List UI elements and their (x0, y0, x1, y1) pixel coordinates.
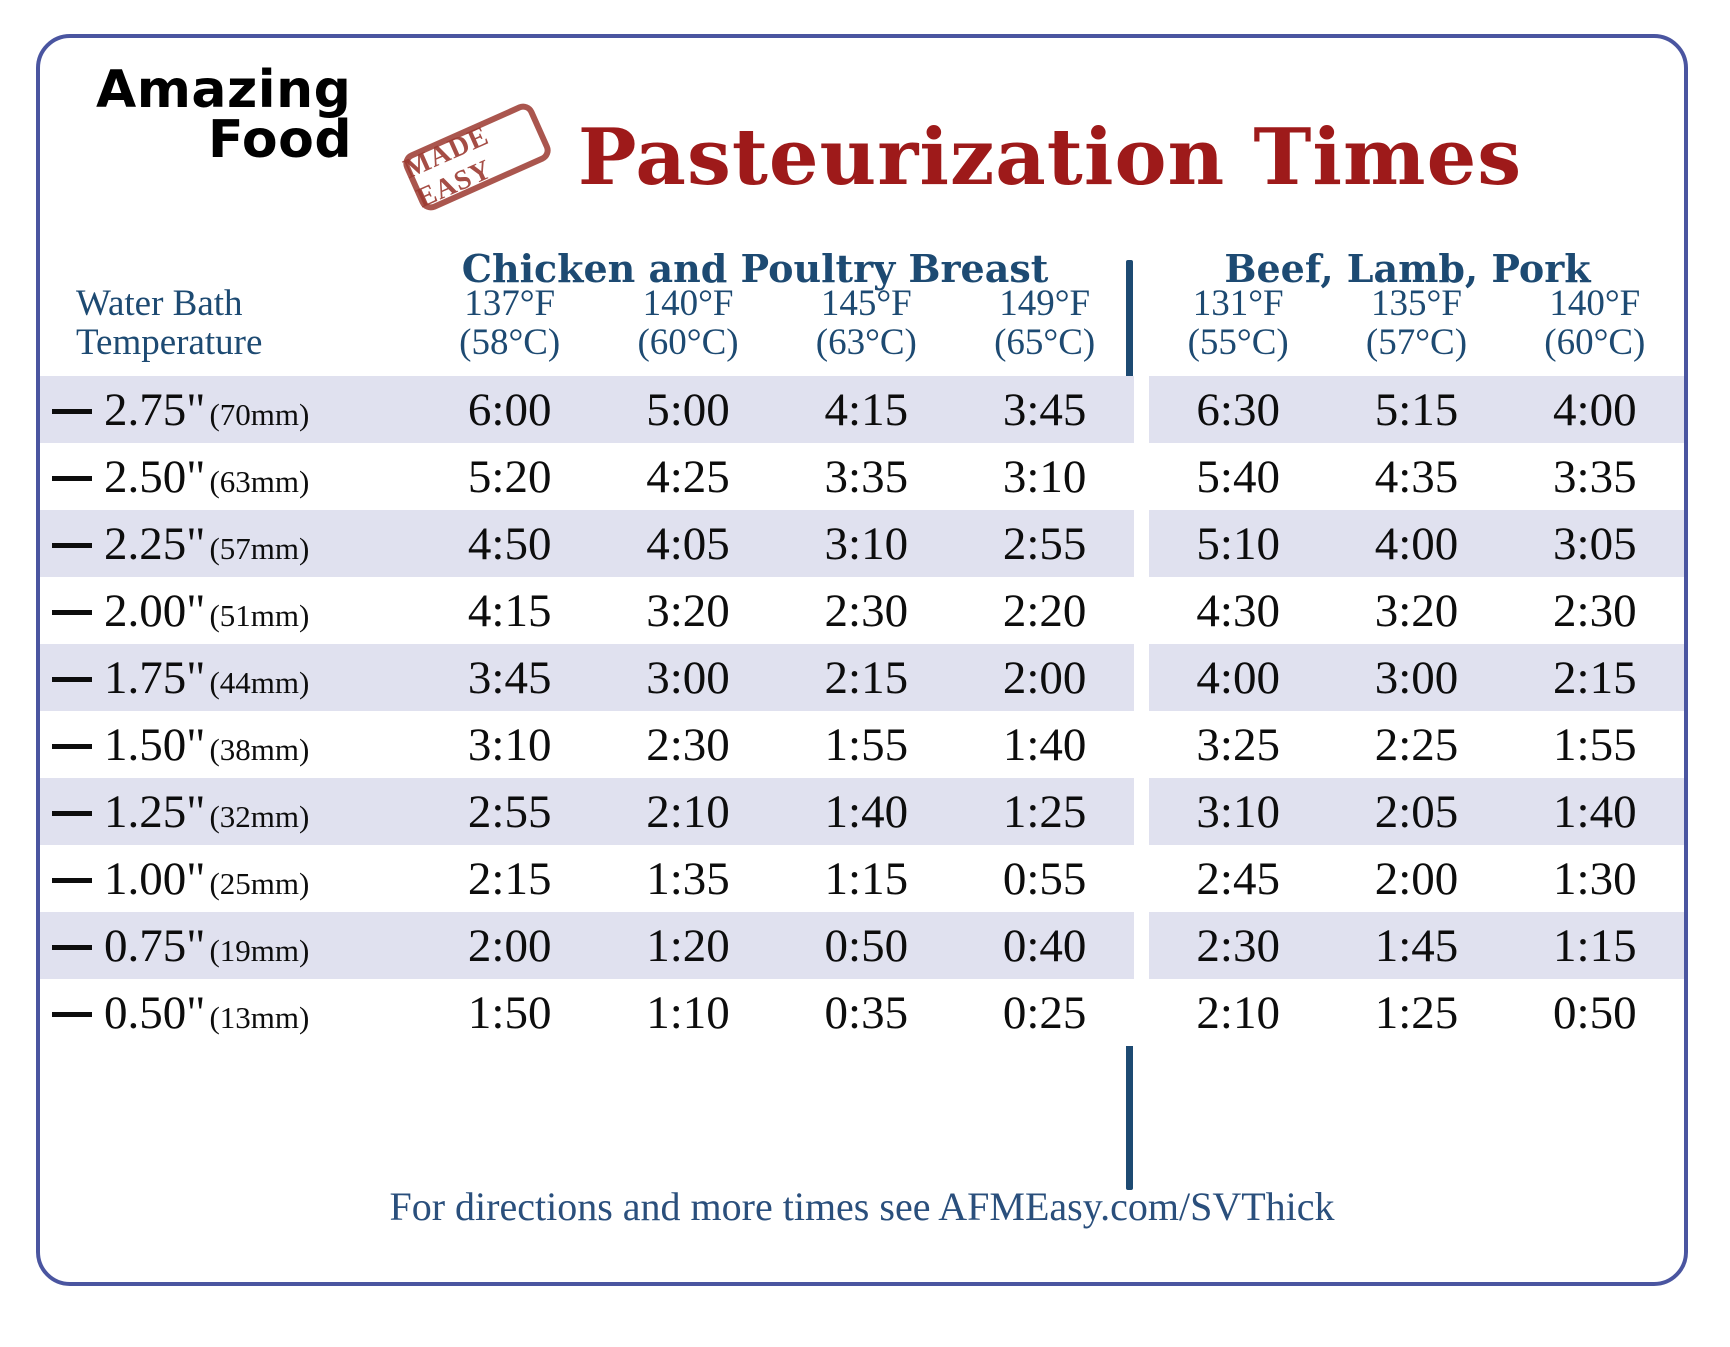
time-cell: 4:15 (421, 577, 599, 644)
time-cell: 2:05 (1327, 778, 1505, 845)
table-head: Water Bath Temperature 137°F (58°C) 140°… (40, 284, 1684, 376)
thickness-inches: 2.00" (104, 585, 205, 637)
dash-icon (52, 409, 92, 414)
thickness-label: 0.50"(13mm) (40, 979, 421, 1046)
time-cell: 3:00 (599, 644, 777, 711)
row-header-label: Water Bath Temperature (40, 284, 421, 376)
row-gap (1134, 778, 1149, 845)
thickness-label: 1.50"(38mm) (40, 711, 421, 778)
table-row: 1.75"(44mm)3:453:002:152:004:003:002:15 (40, 644, 1684, 711)
column-gap (1134, 284, 1149, 376)
time-cell: 1:10 (599, 979, 777, 1046)
time-cell: 1:40 (955, 711, 1133, 778)
time-cell: 2:20 (955, 577, 1133, 644)
thickness-mm: (51mm) (209, 598, 309, 633)
time-cell: 3:10 (777, 510, 955, 577)
row-gap (1134, 979, 1149, 1046)
time-cell: 3:45 (421, 644, 599, 711)
thickness-label: 0.75"(19mm) (40, 912, 421, 979)
time-cell: 4:15 (777, 376, 955, 443)
time-cell: 1:55 (1506, 711, 1684, 778)
col-temp-c: (63°C) (816, 322, 917, 363)
time-cell: 4:00 (1149, 644, 1327, 711)
table-row: 0.75"(19mm)2:001:200:500:402:301:451:15 (40, 912, 1684, 979)
row-gap (1134, 376, 1149, 443)
column-header-145f: 145°F (63°C) (777, 284, 955, 376)
pasteurization-table: Water Bath Temperature 137°F (58°C) 140°… (40, 284, 1684, 1046)
time-cell: 4:30 (1149, 577, 1327, 644)
time-cell: 3:10 (1149, 778, 1327, 845)
time-cell: 0:50 (777, 912, 955, 979)
time-cell: 2:00 (1327, 845, 1505, 912)
table-row: 2.75"(70mm)6:005:004:153:456:305:154:00 (40, 376, 1684, 443)
time-cell: 0:55 (955, 845, 1133, 912)
time-cell: 5:10 (1149, 510, 1327, 577)
thickness-inches: 2.25" (104, 518, 205, 570)
row-gap (1134, 510, 1149, 577)
column-header-140f-poultry: 140°F (60°C) (599, 284, 777, 376)
dash-icon (52, 610, 92, 615)
info-card: Amazing Food MADE EASY Pasteurization Ti… (36, 34, 1688, 1286)
time-cell: 1:30 (1506, 845, 1684, 912)
time-cell: 1:25 (1327, 979, 1505, 1046)
time-cell: 2:10 (1149, 979, 1327, 1046)
time-cell: 2:30 (599, 711, 777, 778)
time-cell: 2:15 (421, 845, 599, 912)
time-cell: 3:35 (777, 443, 955, 510)
time-cell: 1:20 (599, 912, 777, 979)
col-temp-f: 140°F (1549, 283, 1640, 324)
col-temp-f: 137°F (464, 283, 555, 324)
thickness-inches: 1.75" (104, 652, 205, 704)
time-cell: 6:00 (421, 376, 599, 443)
dash-icon (52, 476, 92, 481)
time-cell: 0:25 (955, 979, 1133, 1046)
time-cell: 2:00 (955, 644, 1133, 711)
time-cell: 3:10 (421, 711, 599, 778)
time-cell: 3:35 (1506, 443, 1684, 510)
time-cell: 2:30 (1506, 577, 1684, 644)
time-cell: 1:35 (599, 845, 777, 912)
col-temp-c: (65°C) (994, 322, 1095, 363)
col-temp-c: (57°C) (1366, 322, 1467, 363)
col-temp-c: (58°C) (459, 322, 560, 363)
time-cell: 1:25 (955, 778, 1133, 845)
row-header-line-2: Temperature (76, 322, 262, 363)
thickness-inches: 2.75" (104, 384, 205, 436)
col-temp-c: (55°C) (1188, 322, 1289, 363)
time-cell: 1:50 (421, 979, 599, 1046)
table-row: 1.50"(38mm)3:102:301:551:403:252:251:55 (40, 711, 1684, 778)
table-row: 1.00"(25mm)2:151:351:150:552:452:001:30 (40, 845, 1684, 912)
col-temp-f: 135°F (1371, 283, 1462, 324)
thickness-inches: 1.25" (104, 786, 205, 838)
table-row: 2.25"(57mm)4:504:053:102:555:104:003:05 (40, 510, 1684, 577)
column-header-135f: 135°F (57°C) (1327, 284, 1505, 376)
brand-line-1: Amazing (92, 66, 422, 116)
footer-note: For directions and more times see AFMEas… (40, 1183, 1684, 1230)
brand-logo: Amazing Food (92, 66, 422, 166)
dash-icon (52, 945, 92, 950)
row-gap (1134, 912, 1149, 979)
time-cell: 0:35 (777, 979, 955, 1046)
time-cell: 3:25 (1149, 711, 1327, 778)
time-cell: 2:30 (777, 577, 955, 644)
time-cell: 3:00 (1327, 644, 1505, 711)
time-cell: 5:00 (599, 376, 777, 443)
time-cell: 5:20 (421, 443, 599, 510)
time-cell: 0:50 (1506, 979, 1684, 1046)
table-row: 2.00"(51mm)4:153:202:302:204:303:202:30 (40, 577, 1684, 644)
card-header: Amazing Food MADE EASY Pasteurization Ti… (40, 38, 1684, 243)
col-temp-f: 145°F (821, 283, 912, 324)
col-temp-f: 149°F (999, 283, 1090, 324)
thickness-inches: 1.00" (104, 853, 205, 905)
time-cell: 2:45 (1149, 845, 1327, 912)
table-row: 1.25"(32mm)2:552:101:401:253:102:051:40 (40, 778, 1684, 845)
thickness-label: 2.25"(57mm) (40, 510, 421, 577)
thickness-inches: 0.50" (104, 987, 205, 1039)
time-cell: 5:15 (1327, 376, 1505, 443)
col-temp-c: (60°C) (1544, 322, 1645, 363)
table-row: 0.50"(13mm)1:501:100:350:252:101:250:50 (40, 979, 1684, 1046)
time-cell: 3:05 (1506, 510, 1684, 577)
thickness-label: 2.50"(63mm) (40, 443, 421, 510)
thickness-label: 1.25"(32mm) (40, 778, 421, 845)
thickness-mm: (63mm) (209, 464, 309, 499)
time-cell: 3:45 (955, 376, 1133, 443)
thickness-label: 1.75"(44mm) (40, 644, 421, 711)
time-cell: 1:15 (1506, 912, 1684, 979)
time-cell: 6:30 (1149, 376, 1327, 443)
column-header-149f: 149°F (65°C) (955, 284, 1133, 376)
time-cell: 2:55 (421, 778, 599, 845)
thickness-mm: (70mm) (209, 397, 309, 432)
time-cell: 2:30 (1149, 912, 1327, 979)
col-temp-f: 140°F (643, 283, 734, 324)
thickness-label: 1.00"(25mm) (40, 845, 421, 912)
time-cell: 1:45 (1327, 912, 1505, 979)
table-body: 2.75"(70mm)6:005:004:153:456:305:154:002… (40, 376, 1684, 1046)
time-cell: 1:55 (777, 711, 955, 778)
dash-icon (52, 543, 92, 548)
column-header-131f: 131°F (55°C) (1149, 284, 1327, 376)
thickness-mm: (25mm) (209, 866, 309, 901)
time-cell: 2:00 (421, 912, 599, 979)
table-row: 2.50"(63mm)5:204:253:353:105:404:353:35 (40, 443, 1684, 510)
time-cell: 4:05 (599, 510, 777, 577)
time-cell: 4:50 (421, 510, 599, 577)
col-temp-c: (60°C) (637, 322, 738, 363)
dash-icon (52, 811, 92, 816)
thickness-label: 2.00"(51mm) (40, 577, 421, 644)
time-cell: 2:55 (955, 510, 1133, 577)
column-header-140f-beef: 140°F (60°C) (1506, 284, 1684, 376)
row-gap (1134, 443, 1149, 510)
time-cell: 1:40 (1506, 778, 1684, 845)
col-temp-f: 131°F (1193, 283, 1284, 324)
thickness-label: 2.75"(70mm) (40, 376, 421, 443)
time-cell: 2:10 (599, 778, 777, 845)
dash-icon (52, 878, 92, 883)
dash-icon (52, 677, 92, 682)
thickness-mm: (57mm) (209, 531, 309, 566)
time-cell: 5:40 (1149, 443, 1327, 510)
time-cell: 3:10 (955, 443, 1133, 510)
row-gap (1134, 711, 1149, 778)
time-cell: 4:00 (1506, 376, 1684, 443)
time-cell: 0:40 (955, 912, 1133, 979)
row-gap (1134, 845, 1149, 912)
thickness-mm: (19mm) (209, 933, 309, 968)
dash-icon (52, 1012, 92, 1017)
thickness-mm: (13mm) (209, 1000, 309, 1035)
thickness-mm: (44mm) (209, 665, 309, 700)
time-cell: 4:35 (1327, 443, 1505, 510)
thickness-mm: (38mm) (209, 732, 309, 767)
time-cell: 1:15 (777, 845, 955, 912)
time-cell: 3:20 (599, 577, 777, 644)
thickness-inches: 1.50" (104, 719, 205, 771)
table-header-row: Water Bath Temperature 137°F (58°C) 140°… (40, 284, 1684, 376)
thickness-inches: 2.50" (104, 451, 205, 503)
brand-line-2: Food (92, 116, 422, 166)
row-header-line-1: Water Bath (76, 283, 243, 324)
time-cell: 2:25 (1327, 711, 1505, 778)
thickness-inches: 0.75" (104, 920, 205, 972)
page-title: Pasteurization Times (510, 112, 1590, 203)
time-cell: 1:40 (777, 778, 955, 845)
time-cell: 4:25 (599, 443, 777, 510)
dash-icon (52, 744, 92, 749)
time-cell: 2:15 (777, 644, 955, 711)
row-gap (1134, 644, 1149, 711)
time-cell: 2:15 (1506, 644, 1684, 711)
time-cell: 3:20 (1327, 577, 1505, 644)
thickness-mm: (32mm) (209, 799, 309, 834)
row-gap (1134, 577, 1149, 644)
column-header-137f: 137°F (58°C) (421, 284, 599, 376)
time-cell: 4:00 (1327, 510, 1505, 577)
